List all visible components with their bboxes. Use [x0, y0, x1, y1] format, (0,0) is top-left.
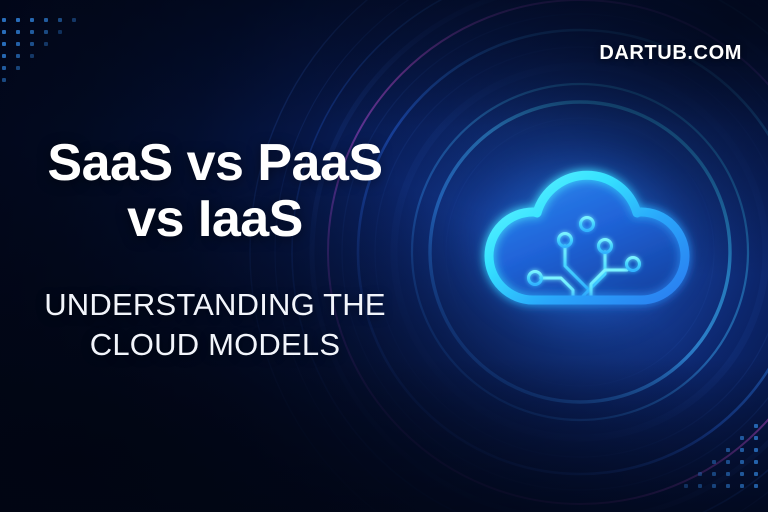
- page-subtitle: UNDERSTANDING THE CLOUD MODELS: [0, 285, 430, 364]
- dot-grid-bottom-right: [692, 424, 764, 488]
- dot-grid-top-left: [2, 18, 74, 74]
- cloud-circuit-icon: [437, 118, 721, 402]
- brand-watermark: DARTUB.COM: [599, 42, 742, 65]
- page-title: SaaS vs PaaS vs IaaS: [0, 136, 430, 247]
- page-title-line-1: SaaS vs PaaS: [0, 136, 430, 192]
- poster-canvas: DARTUB.COM SaaS vs PaaS vs IaaS UNDERSTA…: [0, 0, 768, 512]
- page-title-line-2: vs IaaS: [0, 192, 430, 248]
- circuit-traces-below: [573, 300, 591, 362]
- page-subtitle-line-1: UNDERSTANDING THE: [0, 285, 430, 325]
- page-subtitle-line-2: CLOUD MODELS: [0, 325, 430, 365]
